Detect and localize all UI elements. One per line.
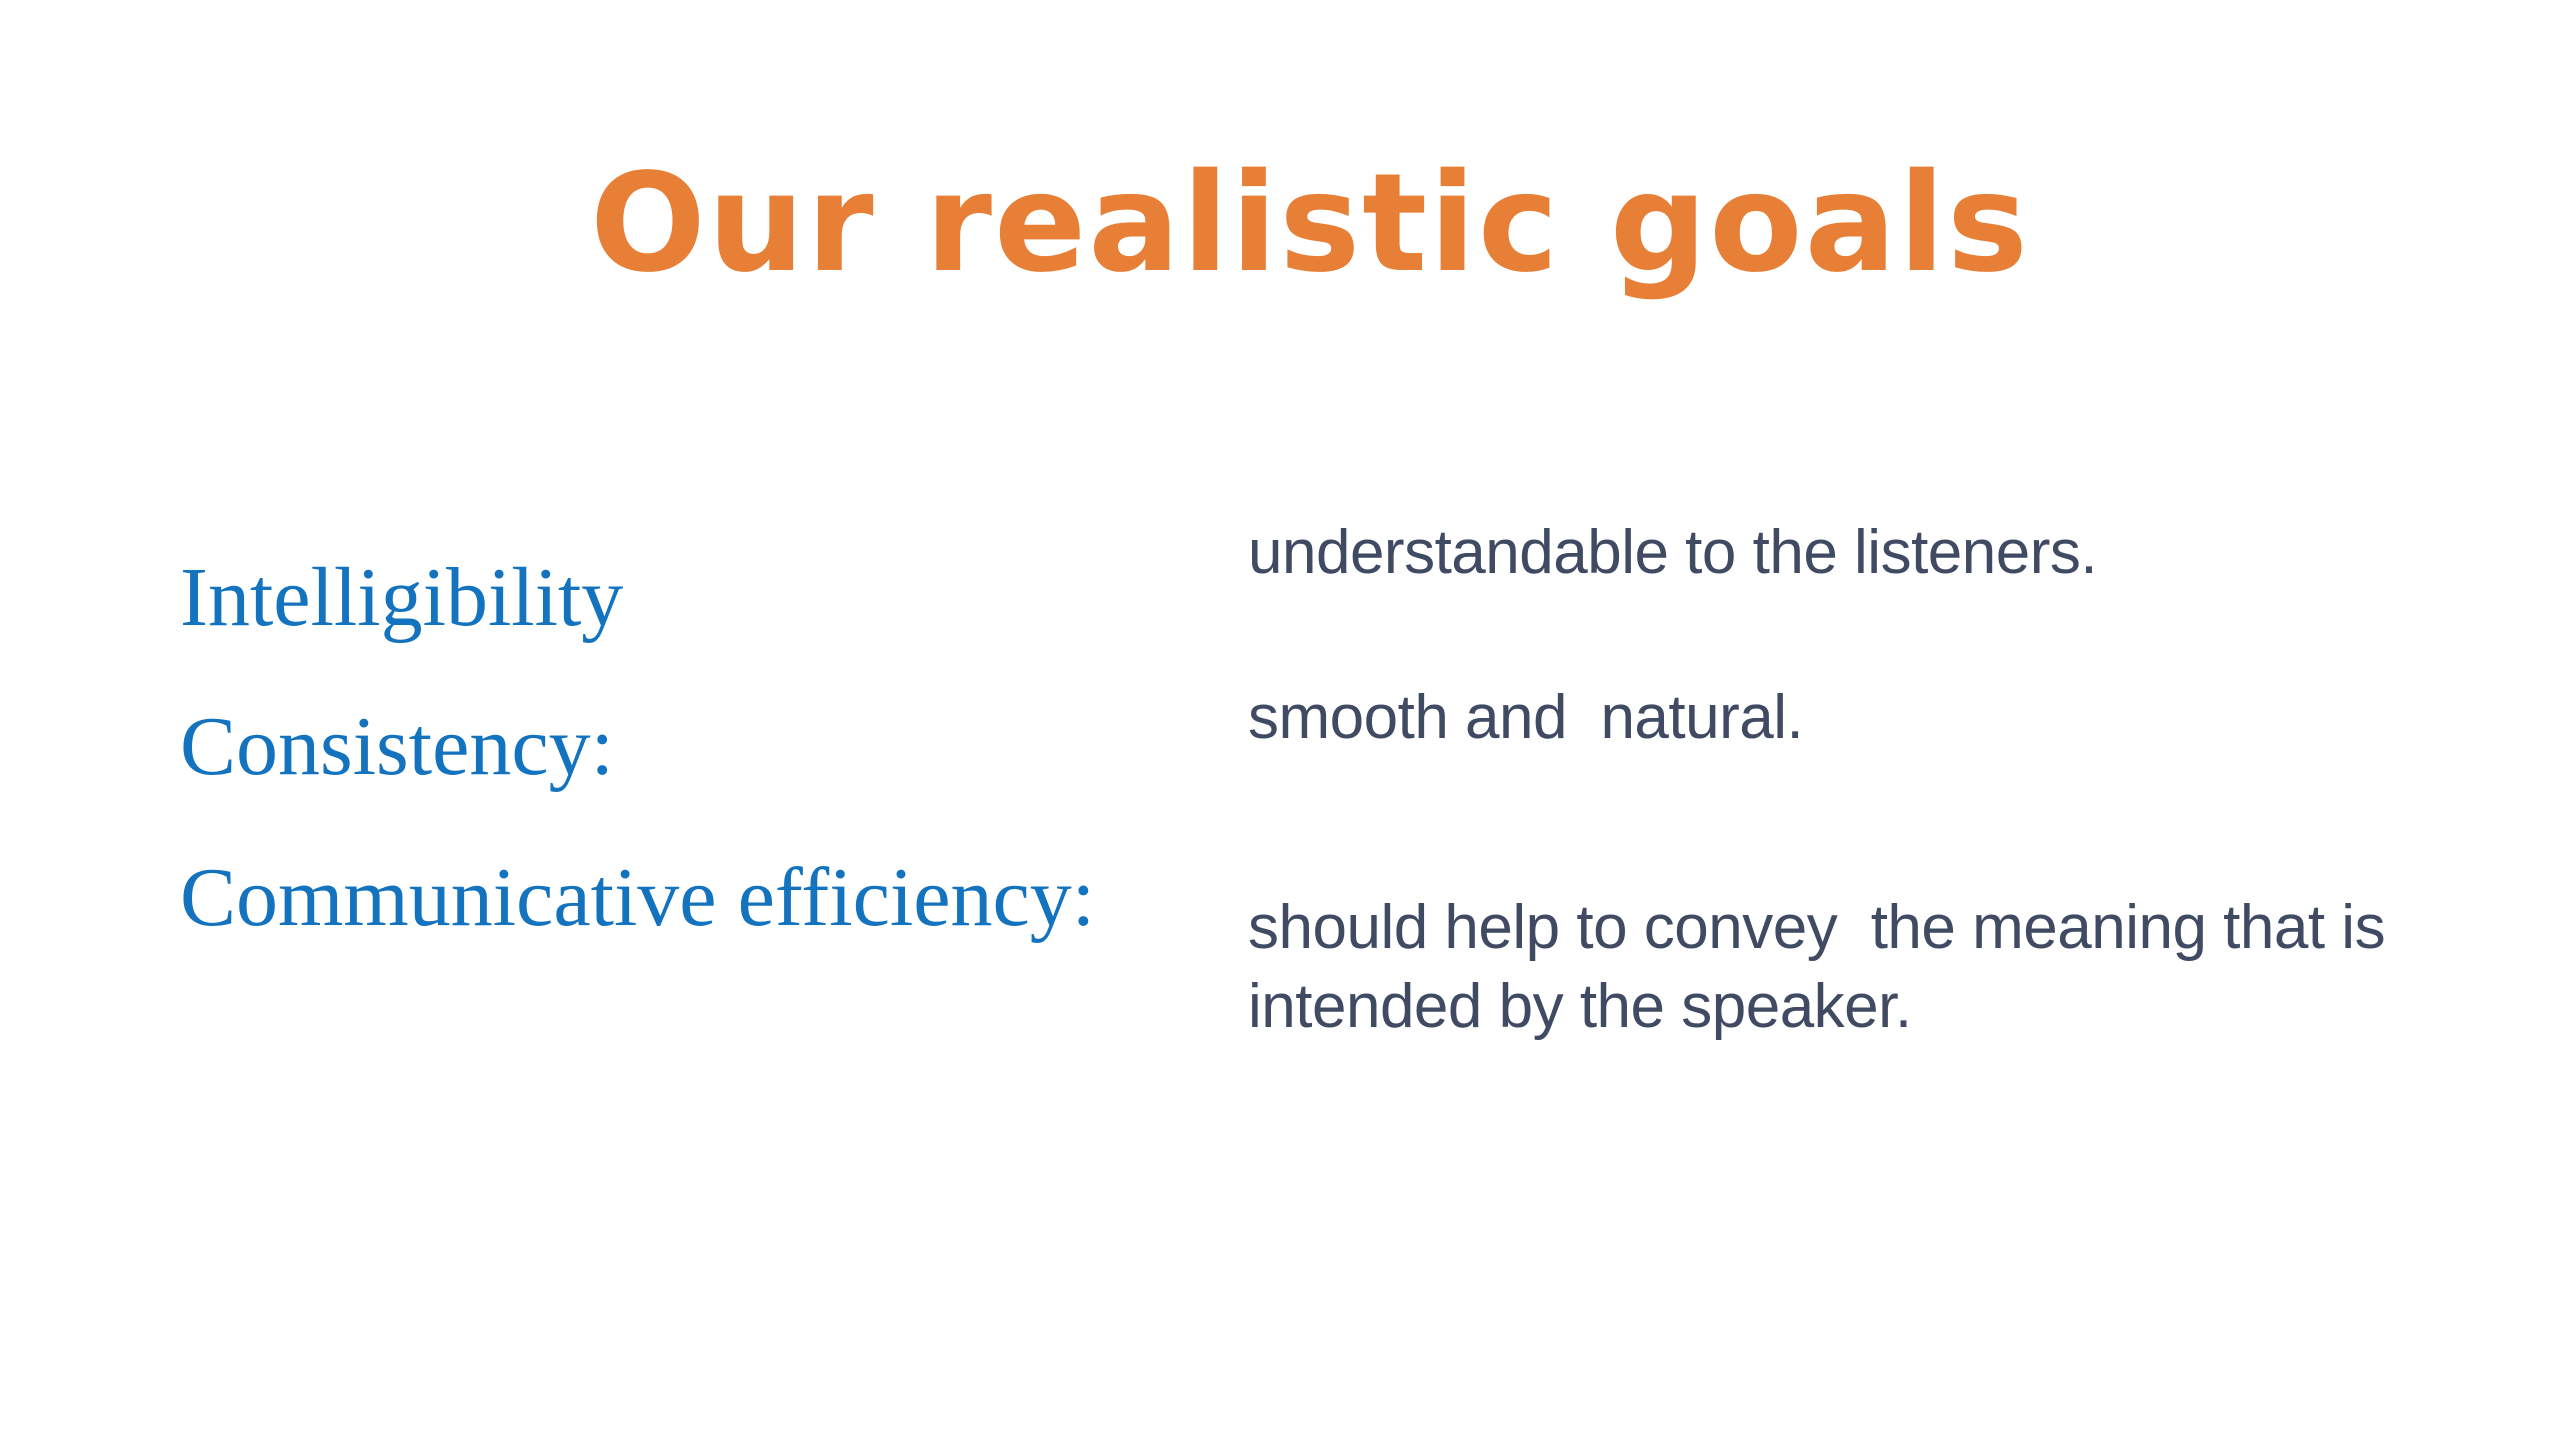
goal-description-intelligibility: understandable to the listeners. [1248, 513, 2448, 592]
goal-term-intelligibility: Intelligibility [180, 556, 623, 640]
goal-term-communicative-efficiency: Communicative efficiency: [180, 856, 1095, 940]
goal-description-communicative-efficiency: should help to convey the meaning that i… [1248, 888, 2448, 1047]
goal-description-consistency: smooth and natural. [1248, 678, 2448, 757]
presentation-slide: Our realistic goals Intelligibility unde… [0, 0, 2560, 1440]
goals-list: Intelligibility understandable to the li… [0, 0, 2560, 1440]
goal-term-consistency: Consistency: [180, 705, 614, 789]
